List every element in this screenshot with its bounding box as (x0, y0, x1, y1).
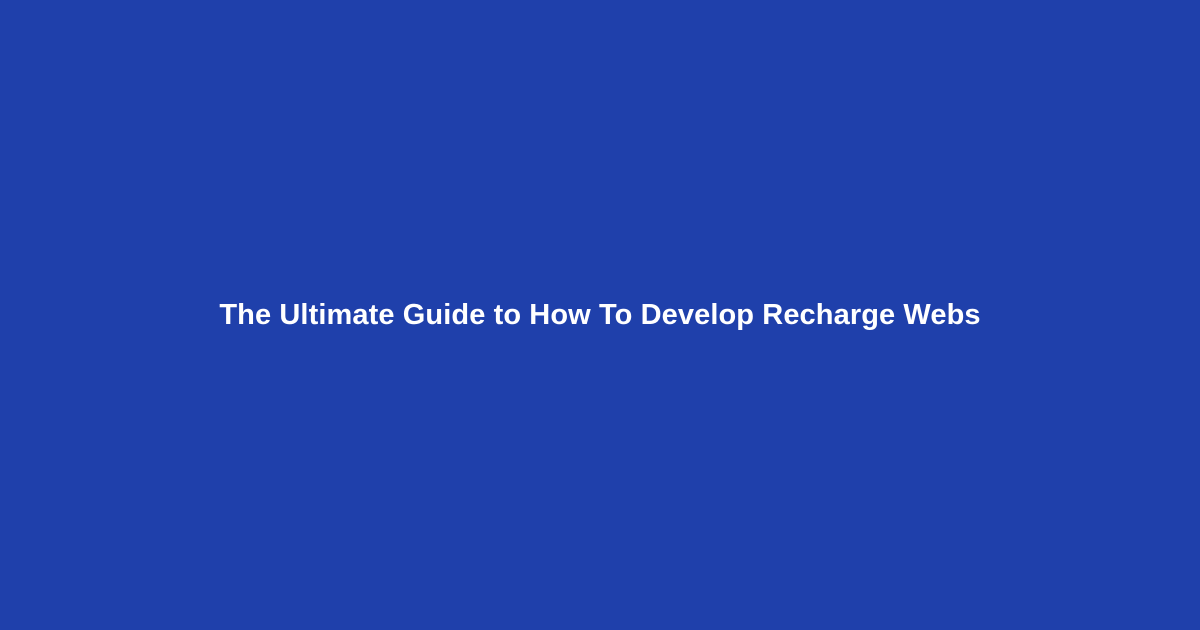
headline-container: The Ultimate Guide to How To Develop Rec… (0, 297, 1200, 333)
share-card: The Ultimate Guide to How To Develop Rec… (0, 0, 1200, 630)
page-title: The Ultimate Guide to How To Develop Rec… (219, 297, 980, 333)
